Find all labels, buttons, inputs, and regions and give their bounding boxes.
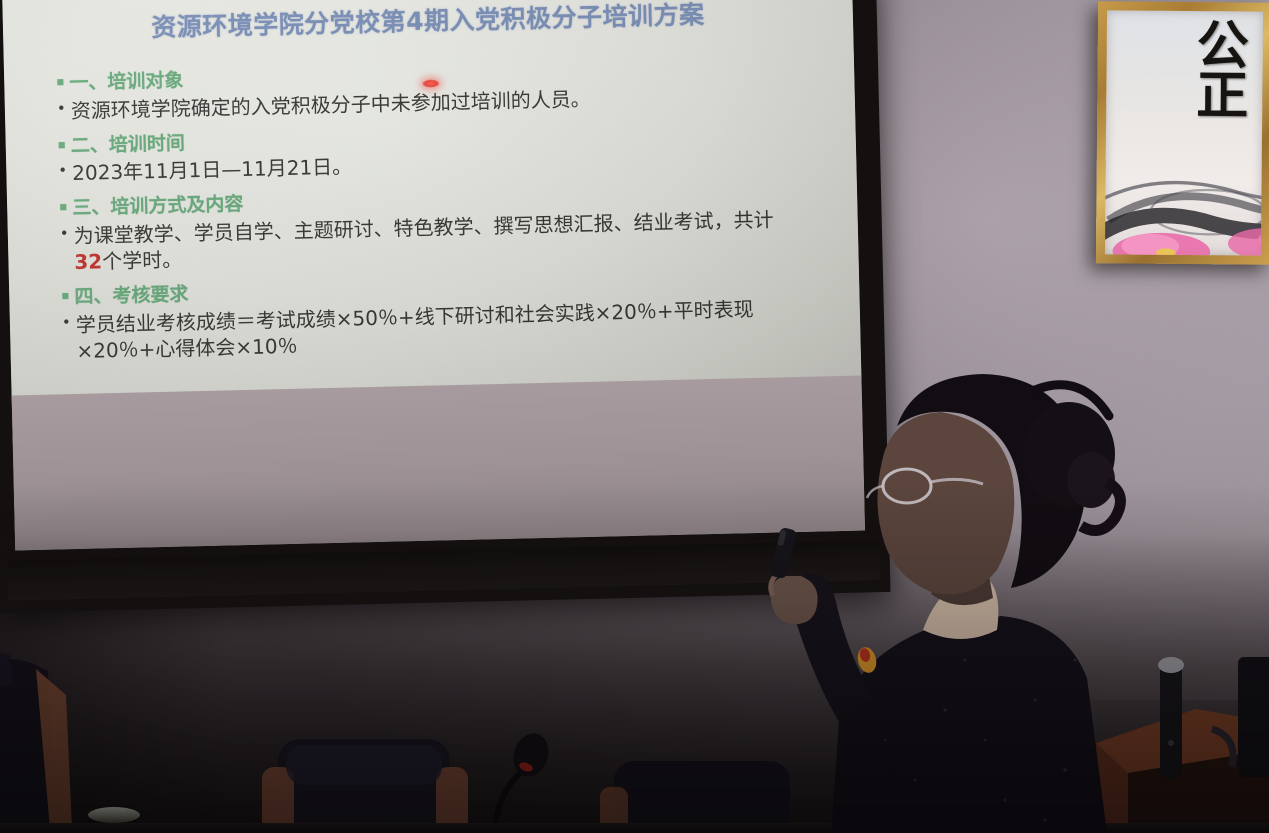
calligraphy-char-1: 公 [1197, 21, 1249, 71]
bullet-icon: ▪ [58, 137, 66, 152]
presenter-jacket [831, 616, 1107, 833]
gooseneck-microphone [476, 721, 566, 833]
slide-heading-3-text: 三、培训方式及内容 [72, 192, 244, 221]
calligraphy-canvas: 公 正 [1105, 10, 1263, 255]
calligraphy-char-2: 正 [1196, 71, 1248, 121]
slide-body-2-text: 2023年11月1日—11月21日。 [72, 154, 353, 187]
chair-left [0, 633, 150, 833]
bullet-icon: • [58, 162, 67, 181]
bullet-icon: • [60, 224, 69, 243]
slide-body-3-line2a: 试，共计 [693, 208, 774, 234]
framed-calligraphy: 公 正 [1096, 1, 1269, 265]
lecture-room-photo: 资源环境学院分党校第4期入党积极分子培训方案 ▪ 一、培训对象 • 资源环境学院… [0, 0, 1269, 833]
slide-body-3-highlight: 32 [74, 249, 102, 274]
ink-wash-lotus-painting [1105, 140, 1263, 255]
bullet-icon: • [57, 99, 66, 118]
slide-heading-1-text: 一、培训对象 [69, 68, 184, 95]
bullet-icon: ▪ [59, 200, 67, 215]
calligraphy-characters: 公 正 [1196, 21, 1249, 121]
slide-body-3-line2b: 个学时。 [102, 248, 183, 274]
slide-heading-4-text: 四、考核要求 [74, 282, 189, 309]
slide-title: 资源环境学院分党校第4期入党积极分子培训方案 [3, 0, 854, 48]
presentation-slide: 资源环境学院分党校第4期入党积极分子培训方案 ▪ 一、培训对象 • 资源环境学院… [2, 0, 861, 407]
presenter-hand [771, 576, 818, 624]
presenter-speaker [735, 330, 1155, 833]
slide-heading-2-text: 二、培训时间 [71, 131, 186, 158]
laser-pointer-remote [769, 527, 798, 580]
bullet-icon: ▪ [56, 74, 64, 89]
bullet-icon: • [62, 313, 71, 332]
bullet-icon: ▪ [61, 288, 69, 303]
chair-center [250, 723, 480, 833]
tea-cup-lid [88, 807, 140, 823]
slide-body: ▪ 一、培训对象 • 资源环境学院确定的入党积极分子中未参加过培训的人员。 ▪ … [56, 51, 803, 374]
